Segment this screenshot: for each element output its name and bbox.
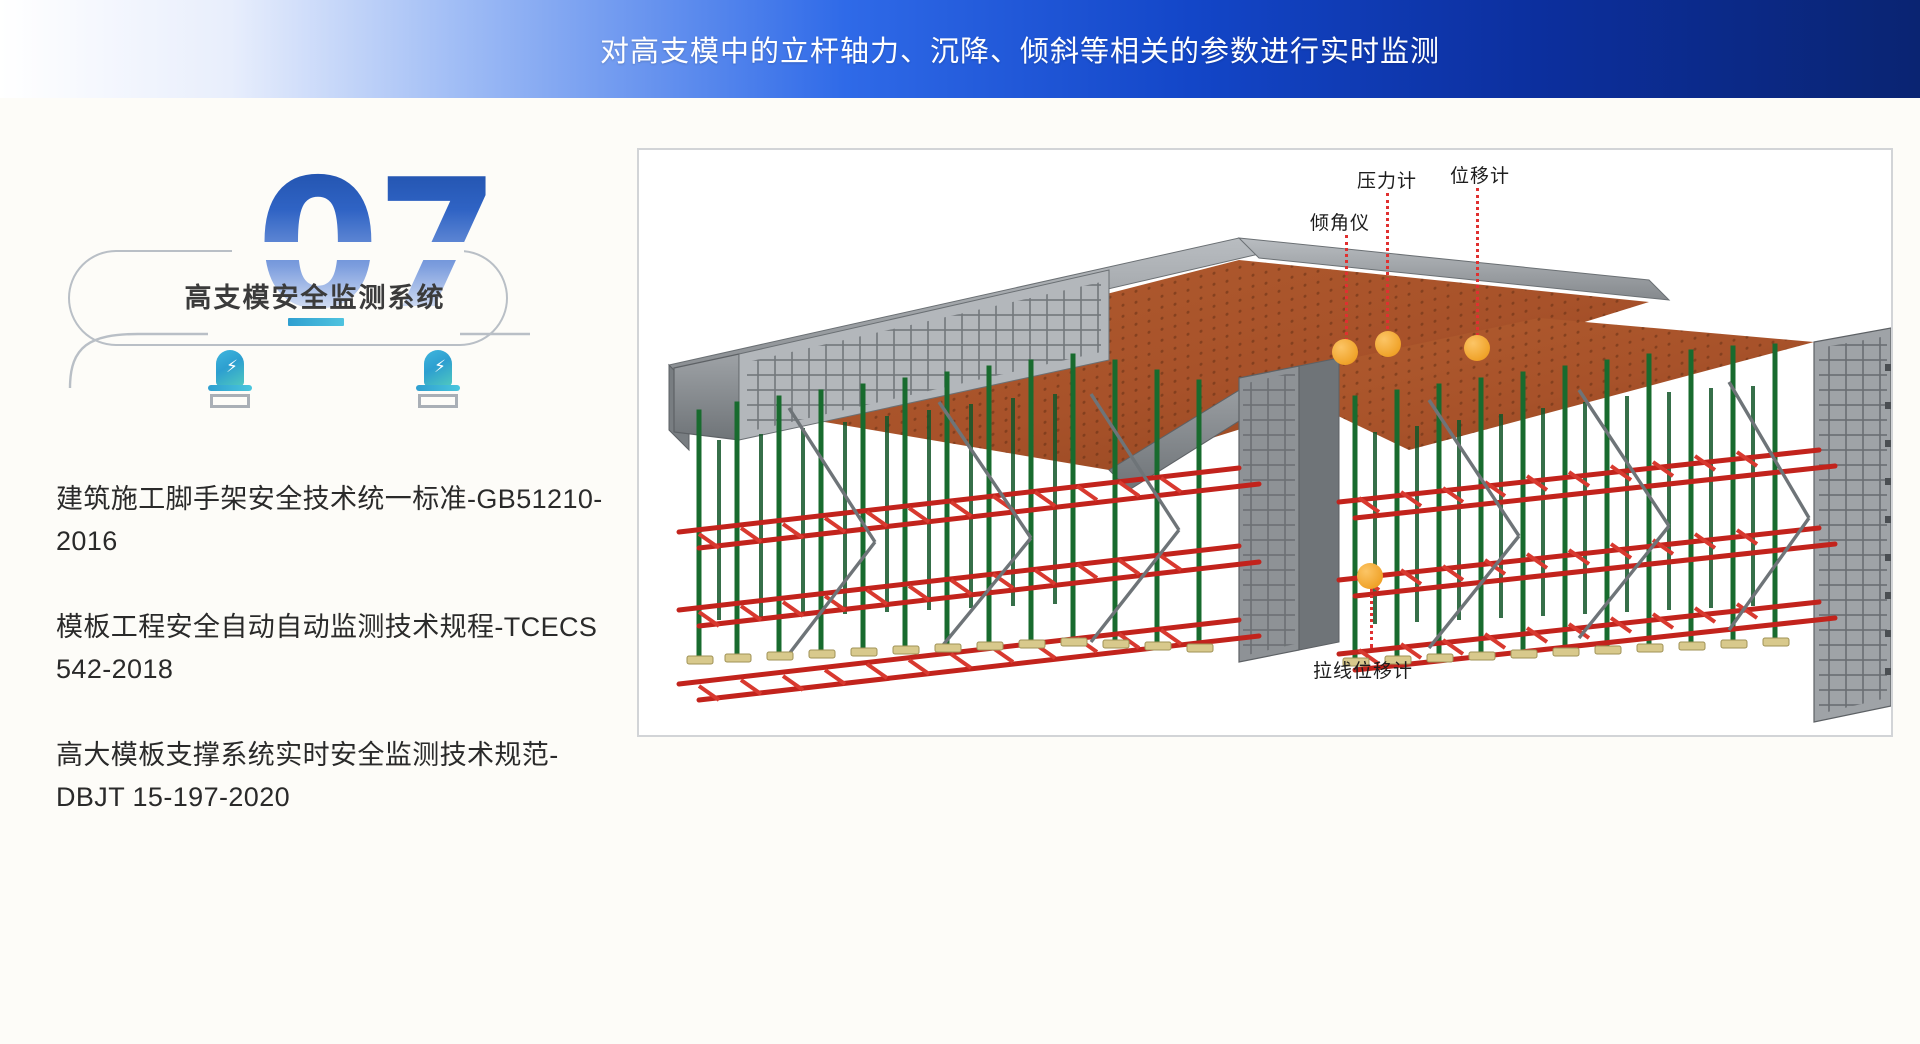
sensor-marker xyxy=(1464,335,1490,361)
callout-label-wire-displacement-meter: 拉线位移计 xyxy=(1313,656,1413,683)
ledger-layer-upper-transoms xyxy=(699,452,1757,548)
badge-accent-underline xyxy=(288,318,344,326)
leader-line-pressure-gauge xyxy=(1386,193,1389,341)
lamp-connector xyxy=(210,394,250,408)
beacon-lamp-icon: ⚡ xyxy=(416,350,460,408)
lightning-bolt-icon: ⚡ xyxy=(226,358,236,376)
lamp-base xyxy=(208,385,252,391)
leader-line-displacement-meter xyxy=(1476,188,1479,343)
lamp-base xyxy=(416,385,460,391)
high-formwork-3d-model xyxy=(639,150,1891,735)
leader-line-inclinometer xyxy=(1345,235,1348,353)
diagram-canvas xyxy=(639,150,1891,735)
leader-line-wire-displacement-meter xyxy=(1370,588,1373,648)
standard-item: 建筑施工脚手架安全技术统一标准-GB51210-2016 xyxy=(56,478,616,562)
callout-label-inclinometer: 倾角仪 xyxy=(1310,208,1370,235)
callout-label-pressure-gauge: 压力计 xyxy=(1357,166,1417,193)
formwork-column-middle xyxy=(1239,358,1339,662)
pill-mask xyxy=(232,242,464,260)
callout-label-displacement-meter: 位移计 xyxy=(1450,161,1510,188)
standard-item: 模板工程安全自动自动监测技术规程-TCECS 542-2018 xyxy=(56,606,616,690)
diagram-panel xyxy=(637,148,1893,737)
standard-item: 高大模板支撑系统实时安全监测技术规范-DBJT 15-197-2020 xyxy=(56,734,616,818)
sensor-marker xyxy=(1357,563,1383,589)
sensor-marker xyxy=(1332,339,1358,365)
lamp-connector xyxy=(418,394,458,408)
standards-list: 建筑施工脚手架安全技术统一标准-GB51210-2016 模板工程安全自动自动监… xyxy=(56,478,616,818)
sensor-marker xyxy=(1375,331,1401,357)
badge-title: 高支模安全监测系统 xyxy=(160,276,470,315)
formwork-panel-right-wall xyxy=(1814,328,1891,722)
header-title: 对高支模中的立杆轴力、沉降、倾斜等相关的参数进行实时监测 xyxy=(0,0,1920,98)
lightning-bolt-icon: ⚡ xyxy=(434,358,444,376)
left-column: 07 ⚡ ⚡ 高支模安全监测系统 建筑施工脚手架安全技术统一标准-GB51210… xyxy=(0,98,640,1044)
section-badge: 07 ⚡ ⚡ 高支模安全监测系统 xyxy=(60,138,580,398)
beacon-lamp-icon: ⚡ xyxy=(208,350,252,408)
page-header: 对高支模中的立杆轴力、沉降、倾斜等相关的参数进行实时监测 xyxy=(0,0,1920,98)
